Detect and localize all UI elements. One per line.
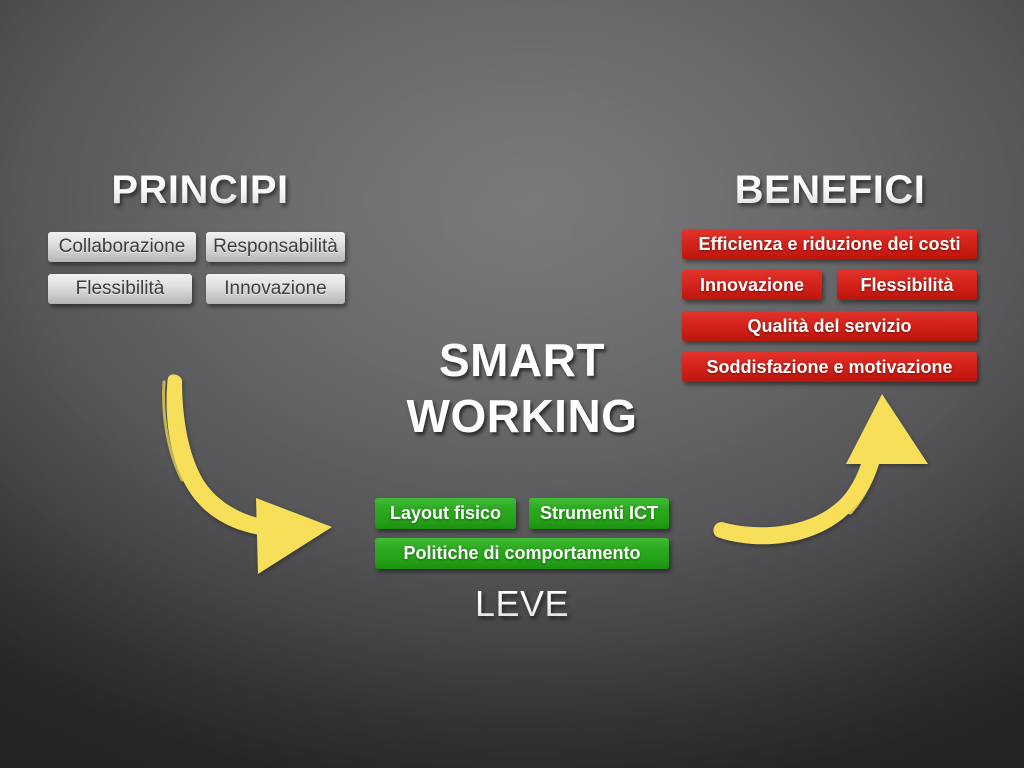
leve-item-layout-fisico: Layout fisico xyxy=(375,498,516,529)
page-title-line-1: SMART xyxy=(352,332,692,388)
page-title-line-2: WORKING xyxy=(352,388,692,444)
box-label: Strumenti ICT xyxy=(540,503,658,524)
section-heading-leve: LEVE xyxy=(372,583,672,625)
benefici-item-qualita-servizio: Qualità del servizio xyxy=(682,311,977,341)
box-label: Politiche di comportamento xyxy=(403,543,640,564)
benefici-item-soddisfazione: Soddisfazione e motivazione xyxy=(682,352,977,382)
leve-item-politiche-comportamento: Politiche di comportamento xyxy=(375,538,669,569)
page-title: SMART WORKING xyxy=(352,332,692,444)
leve-item-strumenti-ict: Strumenti ICT xyxy=(529,498,669,529)
benefici-item-innovazione: Innovazione xyxy=(682,270,822,300)
curved-arrow-up-right-icon xyxy=(700,380,940,570)
principi-item-collaborazione: Collaborazione xyxy=(48,232,196,262)
box-label: Qualità del servizio xyxy=(747,316,911,337)
box-label: Efficienza e riduzione dei costi xyxy=(698,234,960,255)
box-label: Responsabilità xyxy=(213,236,338,258)
benefici-item-efficienza: Efficienza e riduzione dei costi xyxy=(682,229,977,259)
box-label: Flessibilità xyxy=(76,278,165,300)
box-label: Soddisfazione e motivazione xyxy=(706,357,952,378)
box-label: Collaborazione xyxy=(59,236,186,258)
box-label: Innovazione xyxy=(224,278,326,300)
box-label: Innovazione xyxy=(700,275,804,296)
section-heading-benefici: BENEFICI xyxy=(630,168,1024,213)
principi-item-responsabilita: Responsabilità xyxy=(206,232,345,262)
principi-item-innovazione: Innovazione xyxy=(206,274,345,304)
section-heading-principi: PRINCIPI xyxy=(0,168,400,213)
principi-item-flessibilita: Flessibilità xyxy=(48,274,192,304)
presentation-slide: PRINCIPI Collaborazione Responsabilità F… xyxy=(0,0,1024,768)
box-label: Flessibilità xyxy=(860,275,953,296)
box-label: Layout fisico xyxy=(390,503,501,524)
benefici-item-flessibilita: Flessibilità xyxy=(837,270,977,300)
curved-arrow-down-right-icon xyxy=(140,370,360,590)
